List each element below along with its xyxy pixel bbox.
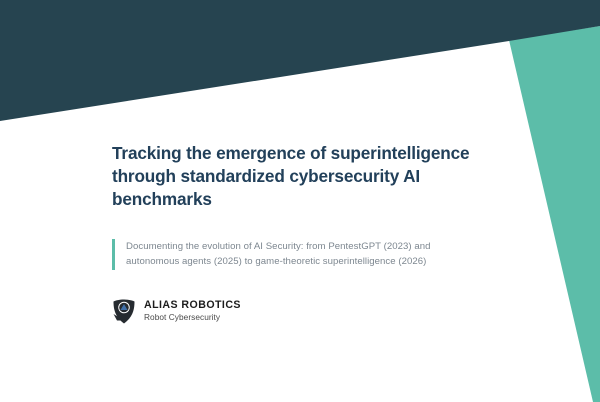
slide-content: Tracking the emergence of superintellige… (112, 142, 477, 324)
brand-wordmark: ALIAS ROBOTICS Robot Cybersecurity (144, 300, 241, 323)
brand-name: ALIAS ROBOTICS (144, 300, 241, 312)
dark-teal-banner-shape (0, 0, 600, 121)
brand-logo: ALIAS ROBOTICS Robot Cybersecurity (112, 299, 477, 324)
brand-tagline: Robot Cybersecurity (144, 313, 241, 323)
alias-robotics-shield-icon (112, 299, 136, 324)
green-wedge-shape (509, 26, 600, 402)
subtitle-text: Documenting the evolution of AI Security… (115, 239, 477, 270)
presentation-slide: Tracking the emergence of superintellige… (0, 0, 600, 402)
subtitle-block: Documenting the evolution of AI Security… (112, 239, 477, 270)
page-title: Tracking the emergence of superintellige… (112, 142, 477, 211)
